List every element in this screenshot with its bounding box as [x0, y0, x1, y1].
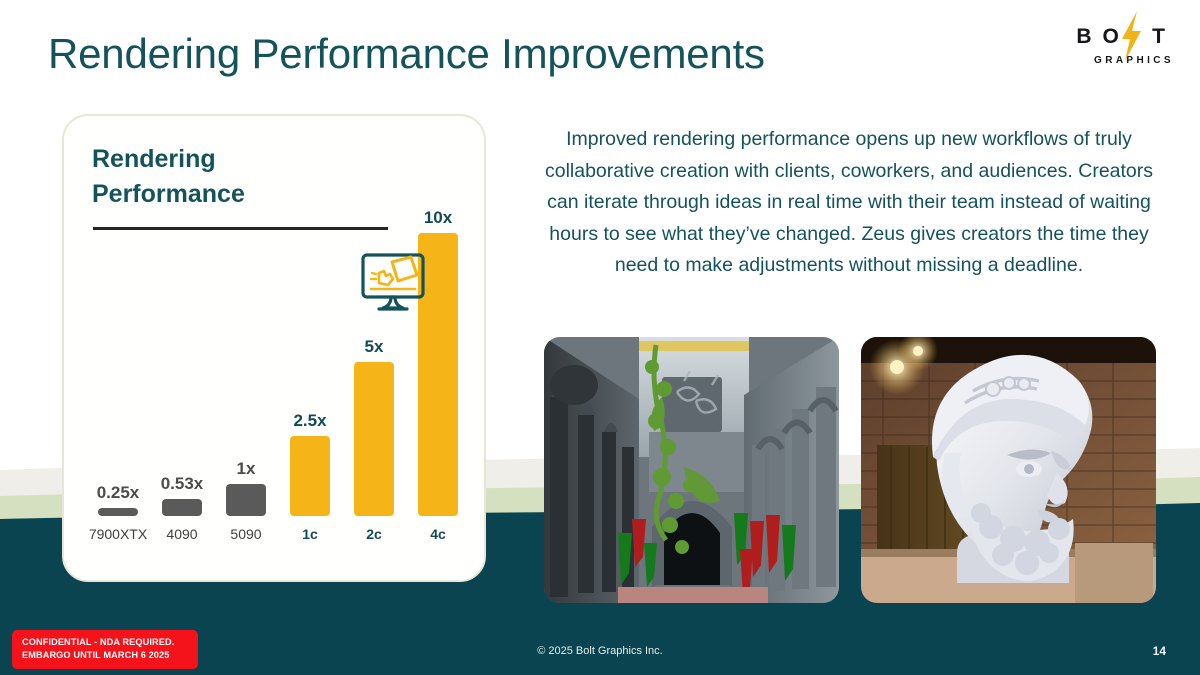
bar-shape — [162, 499, 202, 516]
marble-bust-render — [861, 337, 1156, 603]
brand-wordmark: BOLT — [1076, 26, 1176, 47]
render-gallery — [544, 337, 1156, 603]
rendering-performance-card: Rendering Performance 0.25x 0.53x 1x — [62, 114, 486, 582]
bar-shape — [226, 484, 266, 516]
brand-word-part-2: T — [1152, 25, 1176, 48]
bar-value-label: 5x — [365, 338, 384, 355]
bar-value-label: 0.25x — [97, 484, 140, 501]
axis-tick-label: 4c — [406, 527, 470, 541]
bar-value-label: 10x — [424, 209, 452, 226]
body-paragraph: Improved rendering performance opens up … — [544, 124, 1154, 282]
bar-shape — [98, 508, 138, 516]
gothic-courtyard-render — [544, 337, 839, 603]
category-axis: 7900XTX 4090 5090 1c 2c 4c — [86, 522, 470, 546]
axis-tick-label: 7900XTX — [86, 527, 150, 541]
axis-tick-label: 5090 — [214, 527, 278, 541]
bar-column: 2.5x — [278, 206, 342, 516]
card-heading: Rendering Performance — [92, 142, 245, 211]
axis-tick-label: 1c — [278, 527, 342, 541]
bar-column: 0.25x — [86, 206, 150, 516]
bar-value-label: 2.5x — [293, 412, 326, 429]
page-number: 14 — [1153, 644, 1166, 658]
lightning-bolt-icon — [1116, 11, 1146, 61]
bar-shape — [354, 362, 394, 516]
page-title: Rendering Performance Improvements — [48, 30, 765, 78]
brand-logo: BOLT GRAPHICS — [1076, 26, 1176, 66]
footer-copyright: © 2025 Bolt Graphics Inc. — [0, 645, 1200, 657]
axis-tick-label: 2c — [342, 527, 406, 541]
bar-column: 1x — [214, 206, 278, 516]
monitor-render-icon — [359, 252, 427, 316]
bar-value-label: 0.53x — [161, 475, 204, 492]
axis-tick-label: 4090 — [150, 527, 214, 541]
bar-value-label: 1x — [237, 460, 256, 477]
bar-column: 0.53x — [150, 206, 214, 516]
bar-shape — [290, 436, 330, 516]
